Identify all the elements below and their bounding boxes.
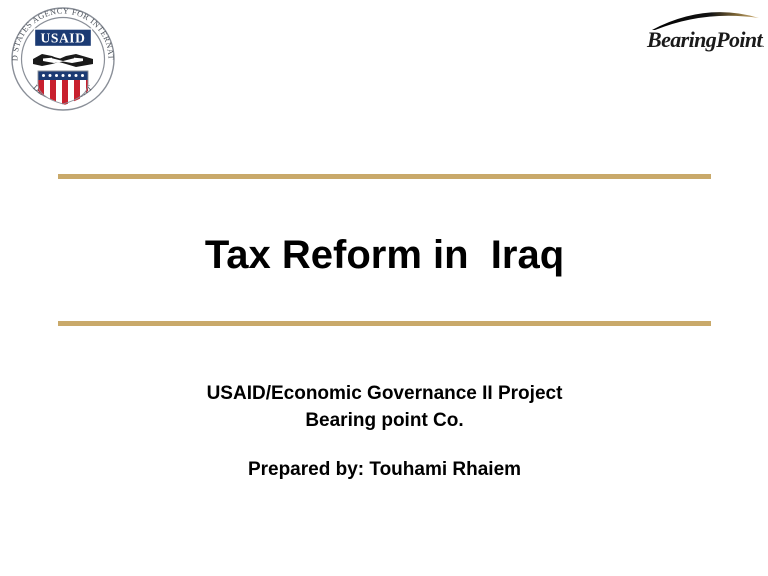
bearingpoint-trademark: . <box>762 39 764 49</box>
slide-subtitle-block: USAID/Economic Governance II Project Bea… <box>58 380 711 483</box>
usaid-seal-icon: UNITED STATES AGENCY FOR INTERNATIONAL D… <box>9 4 117 114</box>
title-slide: UNITED STATES AGENCY FOR INTERNATIONAL D… <box>0 0 768 576</box>
subtitle-spacer <box>58 434 711 456</box>
bearingpoint-wordmark: BearingPoint. <box>647 27 763 53</box>
svg-text:USAID: USAID <box>40 30 85 45</box>
bearingpoint-logo: BearingPoint. <box>647 7 763 55</box>
subtitle-line-author: Prepared by: Touhami Rhaiem <box>58 456 711 483</box>
subtitle-line-company: Bearing point Co. <box>58 407 711 434</box>
divider-rule-top <box>58 174 711 179</box>
subtitle-line-project: USAID/Economic Governance II Project <box>58 380 711 407</box>
slide-title: Tax Reform in Iraq <box>58 231 711 279</box>
divider-rule-bottom <box>58 321 711 326</box>
bearingpoint-wordmark-text: BearingPoint <box>647 27 762 52</box>
